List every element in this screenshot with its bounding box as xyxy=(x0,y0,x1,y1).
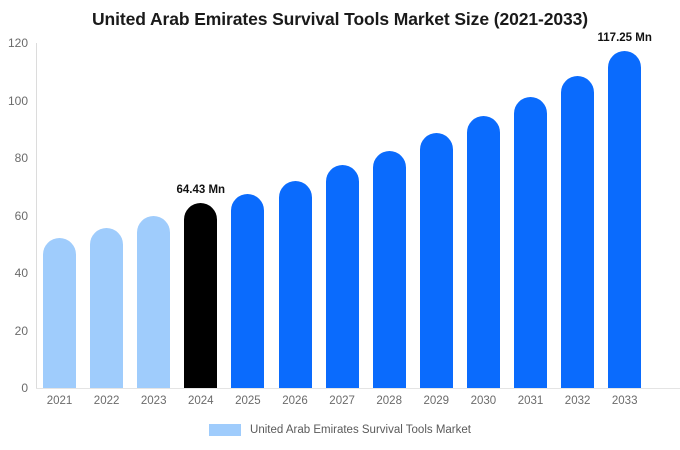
x-axis-tick-label-2023: 2023 xyxy=(137,395,170,407)
bar-2029[interactable] xyxy=(420,133,453,388)
bar-2027[interactable] xyxy=(326,165,359,388)
x-axis-tick-label-2031: 2031 xyxy=(514,395,547,407)
data-label-2033: 117.25 Mn xyxy=(598,32,652,44)
chart-title: United Arab Emirates Survival Tools Mark… xyxy=(0,9,680,30)
bar-2032[interactable] xyxy=(561,76,594,388)
bar-2025[interactable] xyxy=(231,194,264,388)
bar-2023[interactable] xyxy=(137,216,170,388)
legend-label: United Arab Emirates Survival Tools Mark… xyxy=(250,424,471,436)
bar-2030[interactable] xyxy=(467,116,500,388)
y-axis-tick-label: 60 xyxy=(15,209,28,223)
bar-chart: United Arab Emirates Survival Tools Mark… xyxy=(0,0,680,450)
bar-2021[interactable] xyxy=(43,238,76,388)
bar-2031[interactable] xyxy=(514,97,547,388)
y-axis-tick-label: 100 xyxy=(8,94,28,108)
bar-2024[interactable] xyxy=(184,203,217,388)
bar-2028[interactable] xyxy=(373,151,406,388)
bar-2033[interactable] xyxy=(608,51,641,388)
y-axis-line xyxy=(36,43,37,388)
plot-area: 0204060801001202021202220232024202520262… xyxy=(36,43,680,388)
x-axis-tick-label-2025: 2025 xyxy=(231,395,264,407)
chart-legend: United Arab Emirates Survival Tools Mark… xyxy=(0,424,680,436)
x-axis-tick-label-2021: 2021 xyxy=(43,395,76,407)
x-axis-tick-label-2032: 2032 xyxy=(561,395,594,407)
y-axis-tick-label: 80 xyxy=(15,151,28,165)
x-axis-tick-label-2030: 2030 xyxy=(467,395,500,407)
y-axis-tick-label: 120 xyxy=(8,36,28,50)
data-label-2024: 64.43 Mn xyxy=(177,184,226,196)
y-axis-tick-label: 0 xyxy=(21,381,28,395)
x-axis-tick-label-2024: 2024 xyxy=(184,395,217,407)
y-axis-tick-label: 20 xyxy=(15,324,28,338)
x-axis-tick-label-2028: 2028 xyxy=(373,395,406,407)
x-axis-tick-label-2026: 2026 xyxy=(279,395,312,407)
bar-2022[interactable] xyxy=(90,228,123,388)
x-axis-tick-label-2033: 2033 xyxy=(608,395,641,407)
legend-swatch xyxy=(209,424,241,436)
x-axis-line xyxy=(36,388,680,389)
x-axis-tick-label-2022: 2022 xyxy=(90,395,123,407)
x-axis-tick-label-2027: 2027 xyxy=(326,395,359,407)
bar-2026[interactable] xyxy=(279,181,312,388)
y-axis-tick-label: 40 xyxy=(15,266,28,280)
x-axis-tick-label-2029: 2029 xyxy=(420,395,453,407)
